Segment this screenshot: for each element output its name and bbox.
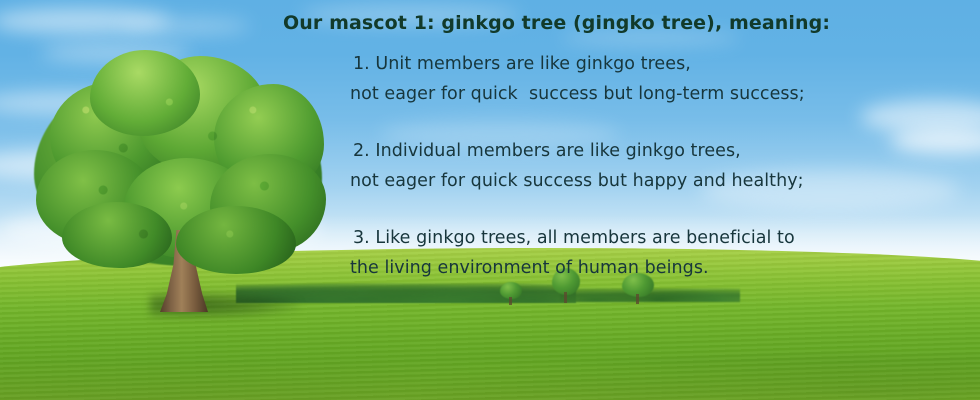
page-title: Our mascot 1: ginkgo tree (gingko tree),…	[283, 12, 830, 34]
mascot-point-1-line-2: not eager for quick success but long-ter…	[350, 84, 805, 104]
mascot-point-3-line-2: the living environment of human beings.	[350, 258, 709, 278]
mascot-point-2-line-1: 2. Individual members are like ginkgo tr…	[353, 141, 741, 161]
mascot-point-1-line-1: 1. Unit members are like ginkgo trees,	[353, 54, 691, 74]
mascot-banner: Our mascot 1: ginkgo tree (gingko tree),…	[0, 0, 980, 400]
banner-copy: Our mascot 1: ginkgo tree (gingko tree),…	[0, 0, 980, 400]
mascot-point-3-line-1: 3. Like ginkgo trees, all members are be…	[353, 228, 795, 248]
mascot-point-2-line-2: not eager for quick success but happy an…	[350, 171, 804, 191]
